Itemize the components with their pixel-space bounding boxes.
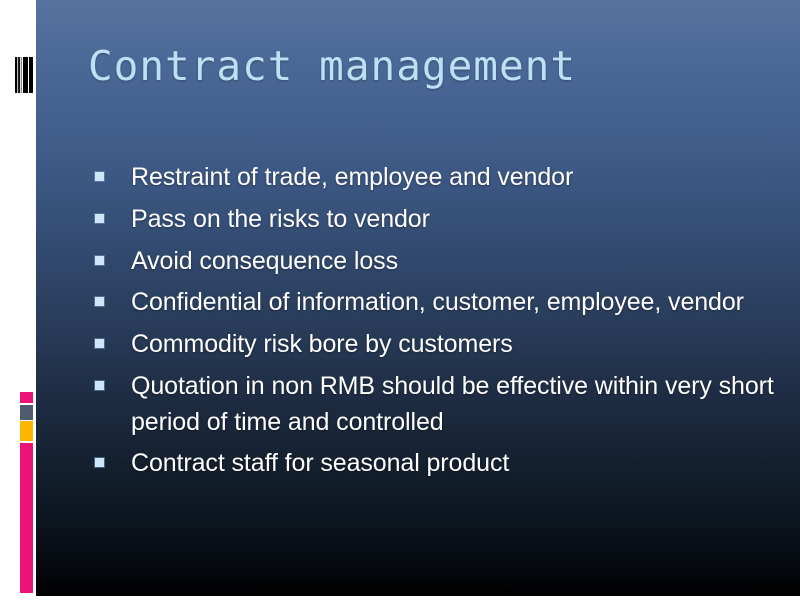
list-item-label: Contract staff for seasonal product — [131, 446, 792, 482]
list-item-label: Confidential of information, customer, e… — [131, 285, 792, 321]
list-item-label: Pass on the risks to vendor — [131, 202, 792, 238]
bullet-square-icon — [95, 214, 104, 223]
list-item: Confidential of information, customer, e… — [92, 285, 792, 321]
bullet-square-icon — [95, 297, 104, 306]
list-item: Avoid consequence loss — [92, 244, 792, 280]
bullet-square-icon — [95, 381, 104, 390]
list-item: Commodity risk bore by customers — [92, 327, 792, 363]
amber-segment-icon — [20, 421, 33, 441]
slide-canvas: Contract management Restraint of trade, … — [36, 0, 800, 596]
list-item: Restraint of trade, employee and vendor — [92, 160, 792, 196]
bullet-square-icon — [95, 256, 104, 265]
pink-segment-top-icon — [20, 392, 33, 403]
vertical-stripes-accent-icon — [15, 57, 33, 93]
page-title: Contract management — [88, 42, 576, 90]
list-item-label: Avoid consequence loss — [131, 244, 792, 280]
pink-segment-long-icon — [20, 443, 33, 593]
list-item: Contract staff for seasonal product — [92, 446, 792, 482]
bullet-list: Restraint of trade, employee and vendor … — [92, 160, 792, 488]
list-item-label: Restraint of trade, employee and vendor — [131, 160, 792, 196]
presentation-slide: Contract management Restraint of trade, … — [0, 0, 800, 600]
slate-segment-icon — [20, 405, 33, 420]
list-item: Pass on the risks to vendor — [92, 202, 792, 238]
bullet-square-icon — [95, 339, 104, 348]
bullet-square-icon — [95, 458, 104, 467]
list-item-label: Commodity risk bore by customers — [131, 327, 792, 363]
list-item: Quotation in non RMB should be effective… — [92, 369, 792, 441]
bullet-square-icon — [95, 172, 104, 181]
list-item-label: Quotation in non RMB should be effective… — [131, 369, 792, 441]
